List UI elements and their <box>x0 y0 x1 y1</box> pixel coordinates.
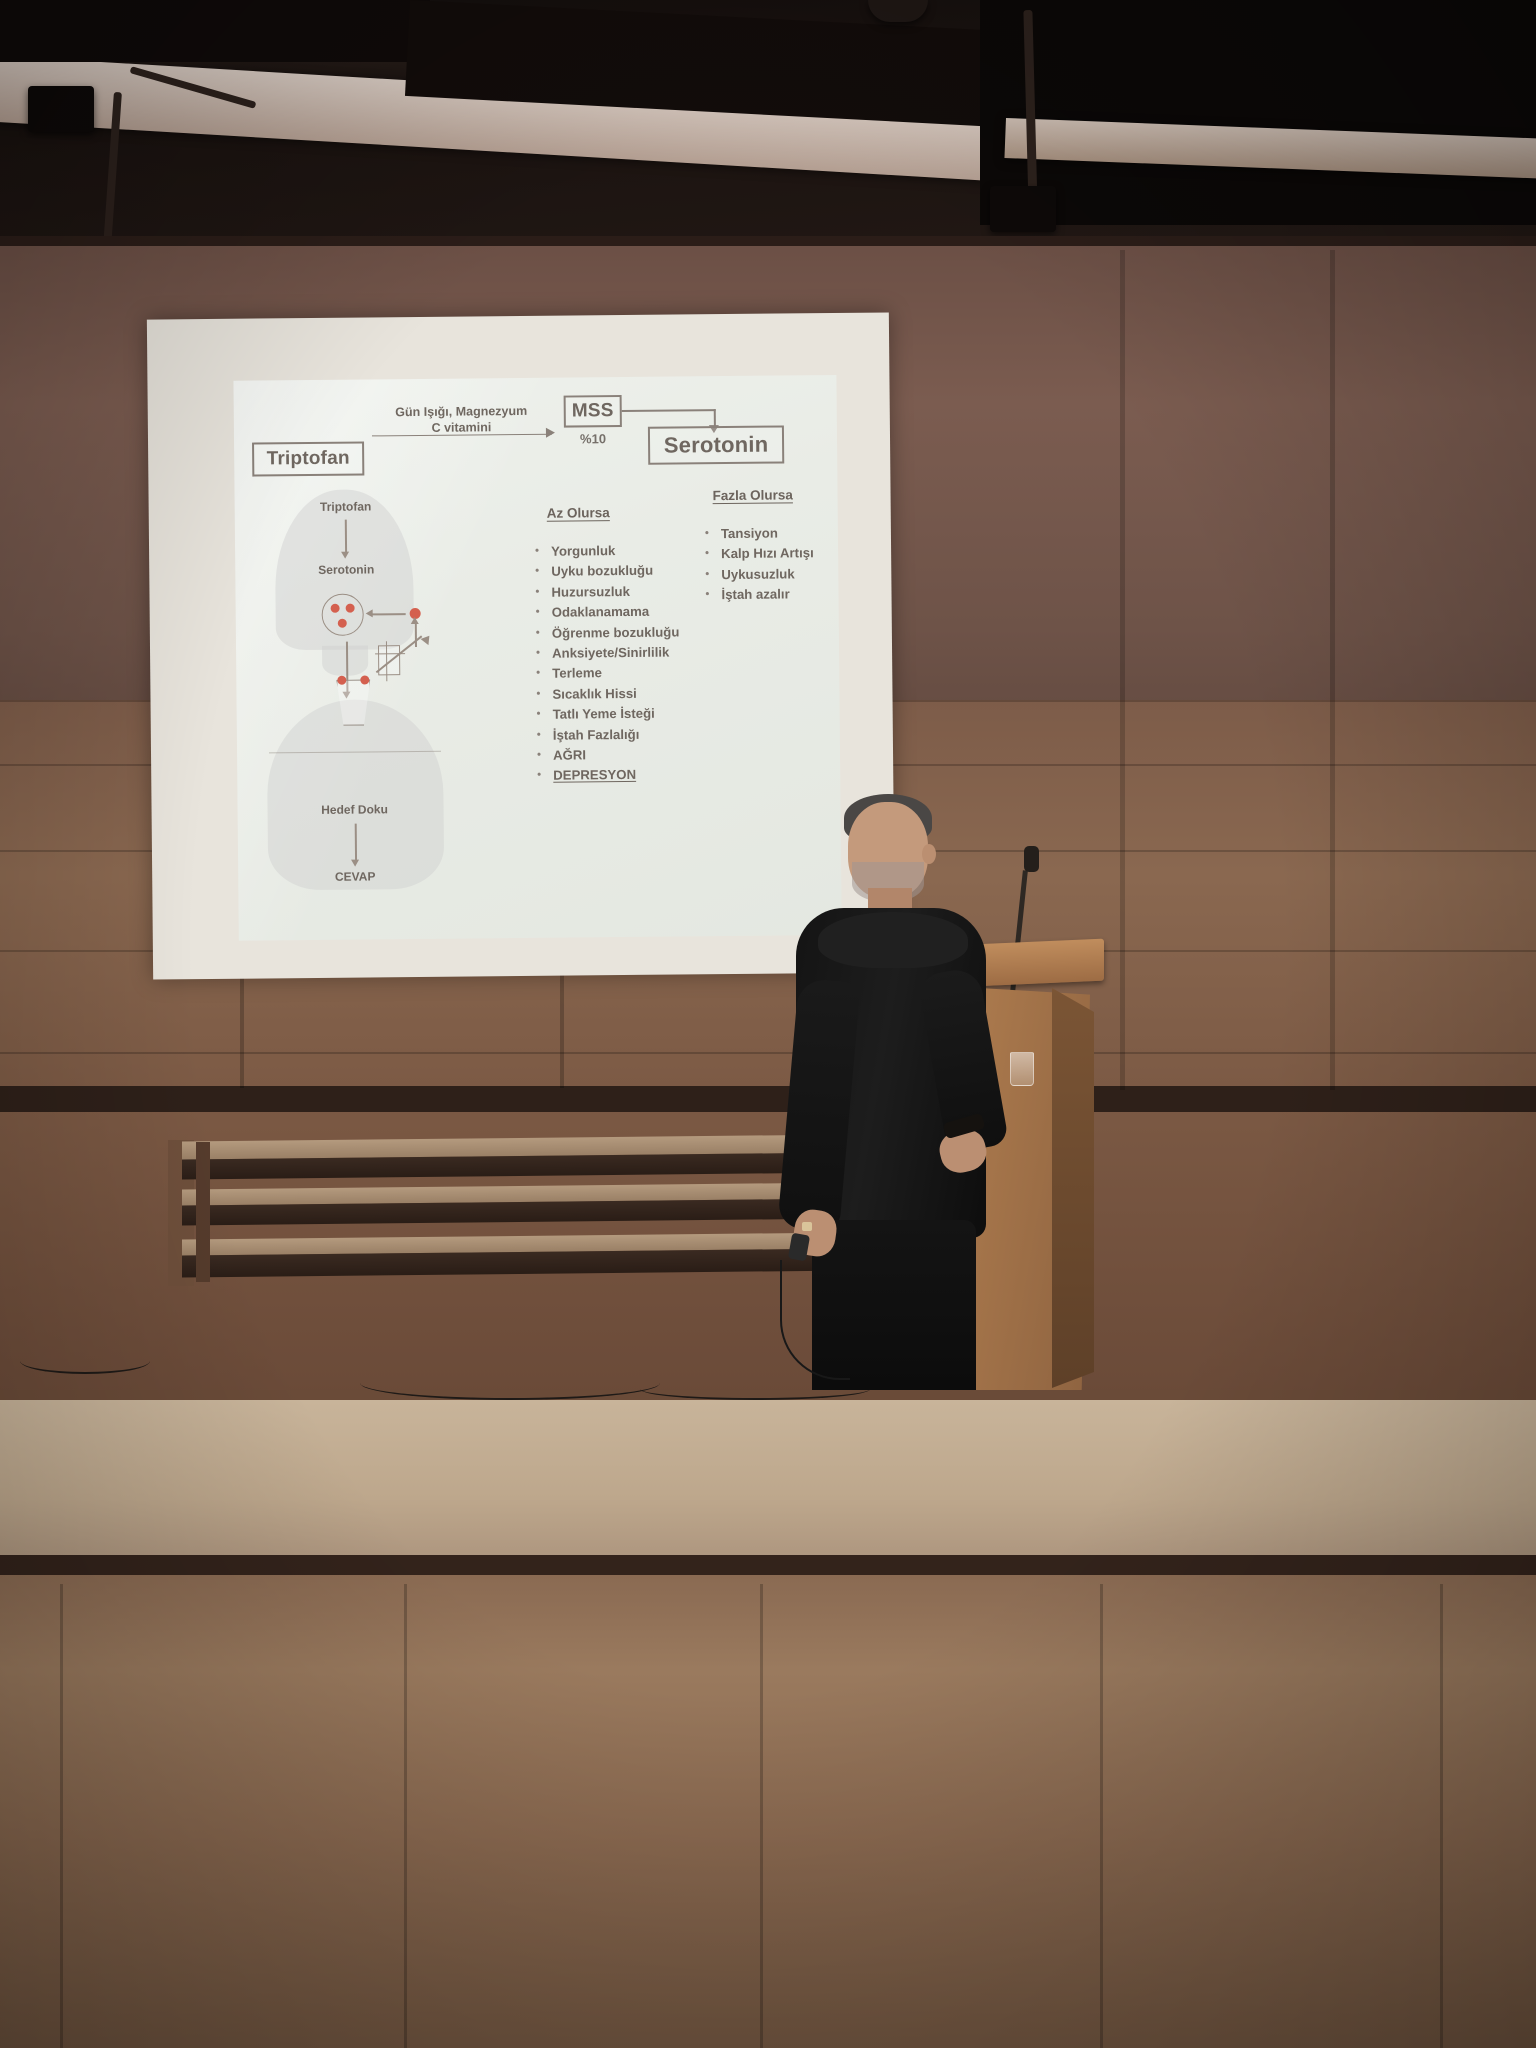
lecture-hall-scene: Triptofan Gün Işığı, Magnezyum C vitamin… <box>0 0 1536 2048</box>
list-item-depresyon: DEPRESYON <box>537 765 681 787</box>
bench-railing <box>168 1124 858 1284</box>
floor-cable-1 <box>20 1348 150 1374</box>
stage-floor <box>0 1400 1536 1580</box>
list-item: AĞRI <box>537 745 681 767</box>
diagram-label-response: CEVAP <box>286 869 424 884</box>
list-item: Uyku bozukluğu <box>535 561 679 583</box>
transporter-arrow-line <box>415 623 417 647</box>
presenter-ring <box>802 1222 812 1231</box>
stage-panel-seam <box>404 1584 407 2048</box>
serotonin-dot <box>346 604 355 613</box>
stage-panel-seam <box>760 1584 763 2048</box>
list-item: Sıcaklık Hissi <box>536 683 680 705</box>
serotonin-dot <box>338 619 347 628</box>
bound-serotonin-dot <box>360 675 369 684</box>
arrow-label-line-2: C vitamini <box>374 419 549 436</box>
response-arrow-head <box>351 860 359 867</box>
arrow-label-line-1: Gün Işığı, Magnezyum <box>374 404 549 421</box>
ceiling-dome-light <box>868 0 928 22</box>
ceiling-panel-dark-left <box>0 0 430 62</box>
slide-content: Triptofan Gün Işığı, Magnezyum C vitamin… <box>233 375 841 941</box>
podium-side-panel <box>1052 988 1094 1388</box>
list-item: Uykusuzluk <box>705 564 814 585</box>
list-item: Kalp Hızı Artışı <box>705 544 814 565</box>
column-heading-az-olursa: Az Olursa <box>547 505 610 521</box>
stage-panel-seam <box>1440 1584 1443 2048</box>
projected-slide: Triptofan Gün Işığı, Magnezyum C vitamin… <box>233 375 841 941</box>
floor-cable-2 <box>360 1366 660 1400</box>
list-item: Odaklanamama <box>536 602 680 624</box>
bound-serotonin-dot <box>337 676 346 685</box>
stage-panel-seam <box>1100 1584 1103 2048</box>
list-item: İştah Fazlalığı <box>537 724 681 746</box>
column-heading-fazla-olursa: Fazla Olursa <box>712 487 792 503</box>
presenter-cord <box>780 1260 850 1380</box>
diagram-arrow-head-1 <box>341 552 349 559</box>
presentation-clicker[interactable] <box>788 1233 810 1262</box>
list-item: Yorgunluk <box>535 540 679 562</box>
floor-cable-3 <box>640 1378 870 1400</box>
list-item: Tansiyon <box>705 523 814 544</box>
stage-panel-seam <box>60 1584 63 2048</box>
list-item: Terleme <box>536 663 680 685</box>
presenter-hood <box>818 912 968 968</box>
diagram-label-tryptophan: Triptofan <box>287 499 405 514</box>
wall-trim-dark-top <box>0 236 1536 246</box>
reuptake-arrow-head <box>366 609 373 617</box>
list-item: Anksiyete/Sinirlilik <box>536 643 680 665</box>
wall-panel-seam-vertical-4 <box>1330 250 1335 1090</box>
diagram-label-target-tissue: Hedef Doku <box>279 802 429 817</box>
serotonin-box: Serotonin <box>648 425 784 464</box>
ceiling-panel-dark-right <box>980 0 1536 225</box>
list-az-olursa: Yorgunluk Uyku bozukluğu Huzursuzluk Oda… <box>535 540 681 786</box>
stage-front-panel <box>0 1575 1536 2048</box>
reuptake-arrow-line <box>372 613 406 615</box>
list-item: Öğrenme bozukluğu <box>536 622 680 644</box>
diagram-label-serotonin: Serotonin <box>287 562 405 577</box>
presenter-ear <box>922 844 936 864</box>
serotonin-dot <box>331 604 340 613</box>
list-fazla-olursa: Tansiyon Kalp Hızı Artışı Uykusuzluk İşt… <box>705 523 814 606</box>
mss-box: MSS <box>564 395 622 428</box>
recycle-arrow-head <box>421 633 434 645</box>
transporter-arrow-head <box>411 617 419 624</box>
wall-panel-seam-vertical-3 <box>1120 250 1125 1090</box>
ceiling-speaker-box-right <box>990 186 1056 232</box>
conversion-arrow-label: Gün Işığı, Magnezyum C vitamini <box>374 404 549 437</box>
presenter <box>756 790 1056 1410</box>
diagram-arrow-trp-to-ser <box>345 520 347 554</box>
list-item: İştah azalır <box>705 584 814 605</box>
tryptophan-box: Triptofan <box>252 441 364 476</box>
list-item: Tatlı Yeme İsteği <box>537 704 681 726</box>
vesicle-circle <box>321 594 363 636</box>
mss-percent-label: %10 <box>564 431 622 447</box>
mss-to-serotonin-line-h <box>622 409 716 412</box>
bench-post-mid <box>196 1142 210 1282</box>
list-item: Huzursuzluk <box>535 581 679 603</box>
ceiling-speaker-box-left <box>28 86 94 132</box>
